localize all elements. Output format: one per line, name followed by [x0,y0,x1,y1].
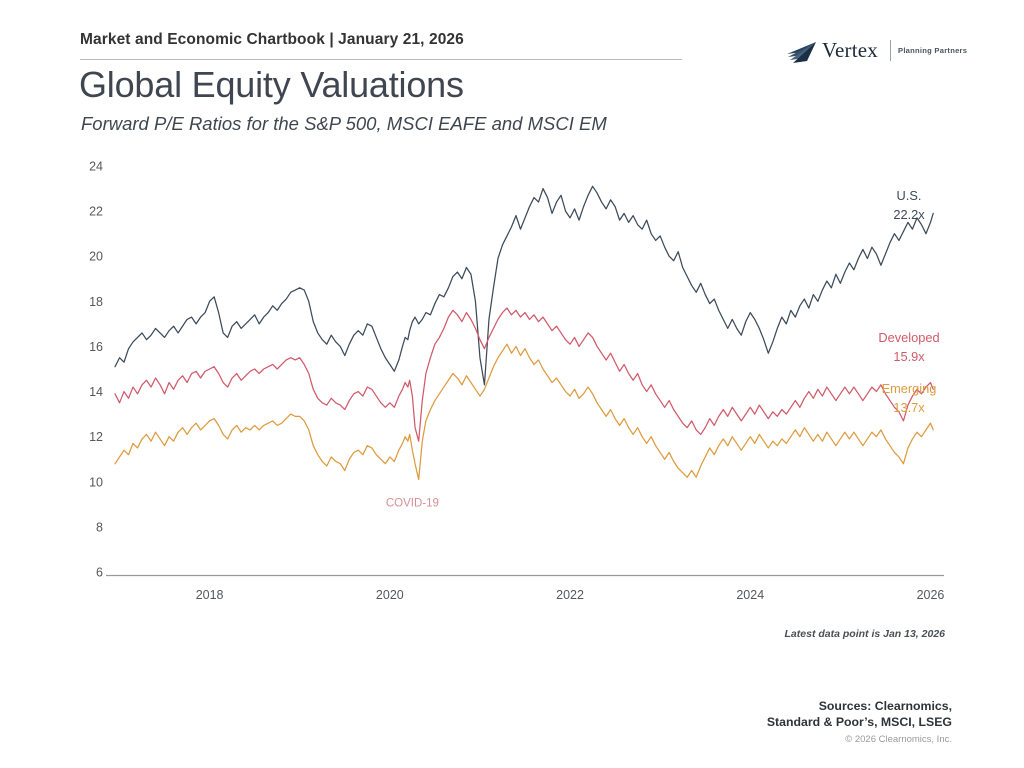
copyright-line: © 2026 Clearnomics, Inc. [0,732,952,748]
sources-line-1: Sources: Clearnomics, [0,698,952,714]
series-value-emerging: 13.7x [893,400,925,415]
vertex-arrow-icon [786,41,820,65]
x-tick-label-2018: 2018 [196,588,224,602]
x-tick-label-2020: 2020 [376,588,404,602]
logo-tagline: Planning Partners [898,46,967,55]
y-tick-label-12: 12 [89,430,103,444]
series-label-developed: Developed [878,330,939,345]
logo-wordmark: Vertex [822,38,878,63]
chartbook-title: Market and Economic Chartbook | January … [80,31,464,49]
series-line-us [115,186,933,384]
chart-annotations: COVID-19 [386,498,439,510]
series-line-developed [115,308,933,441]
vertex-logo: Vertex Planning Partners [786,38,951,72]
y-tick-label-10: 10 [89,475,103,489]
y-tick-label-24: 24 [89,160,103,174]
y-tick-label-22: 22 [89,205,103,219]
annotation-covid19: COVID-19 [386,498,439,510]
y-tick-label-8: 8 [96,520,103,534]
y-tick-label-16: 16 [89,340,103,354]
x-tick-label-2022: 2022 [556,588,584,602]
y-tick-label-20: 20 [89,250,103,264]
series-legend-labels: U.S.22.2xDeveloped15.9xEmerging13.7x [878,188,939,415]
page-subtitle: Forward P/E Ratios for the S&P 500, MSCI… [81,113,607,135]
page-header: Market and Economic Chartbook | January … [0,0,1024,146]
x-tick-label-2026: 2026 [917,588,945,602]
series-value-us: 22.2x [893,207,925,222]
header-divider [80,59,682,60]
sources-block: Sources: Clearnomics, Standard & Poor’s,… [0,698,952,748]
series-value-developed: 15.9x [893,349,925,364]
x-tick-label-2024: 2024 [736,588,764,602]
series-line-emerging [115,344,933,479]
series-label-us: U.S. [897,188,922,203]
sources-line-2: Standard & Poor’s, MSCI, LSEG [0,714,952,730]
x-axis-ticks: 20182020202220242026 [196,588,945,602]
logo-divider [890,40,891,61]
latest-data-point-note: Latest data point is Jan 13, 2026 [0,628,945,640]
y-axis-ticks: 681012141618202224 [89,160,103,580]
page-title: Global Equity Valuations [79,64,464,106]
y-tick-label-14: 14 [89,385,103,399]
series-lines [115,186,933,479]
y-tick-label-6: 6 [96,566,103,580]
y-tick-label-18: 18 [89,295,103,309]
series-label-emerging: Emerging [882,381,937,396]
